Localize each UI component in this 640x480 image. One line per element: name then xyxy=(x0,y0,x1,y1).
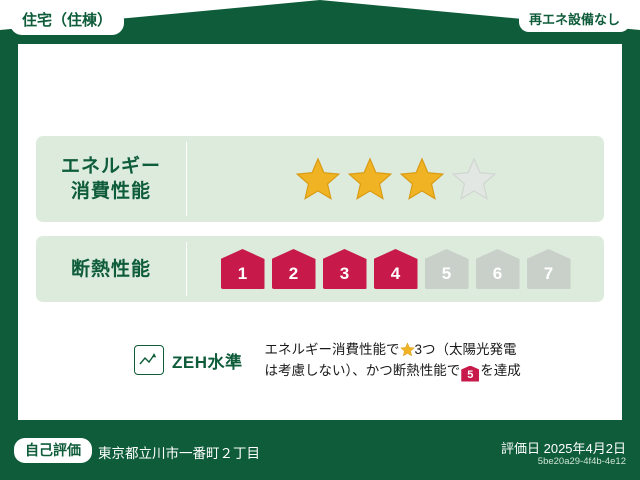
label-footer: 自己評価 東京都立川市一番町２丁目 評価日 2025年4月2日 5be20a29… xyxy=(0,424,640,480)
heading-main: 省エネ性能ラベル xyxy=(0,82,640,119)
property-address: 東京都立川市一番町２丁目 xyxy=(98,442,260,462)
evaluation-date: 評価日 2025年4月2日 xyxy=(501,438,626,457)
insulation-grade-5: 5 xyxy=(425,249,469,289)
insulation-grade-3: 3 xyxy=(323,249,367,289)
self-evaluation-badge: 自己評価 xyxy=(14,438,92,463)
insulation-grade-6: 6 xyxy=(476,249,520,289)
grade-number: 4 xyxy=(391,264,400,284)
energy-performance-row: エネルギー 消費性能 xyxy=(36,136,604,222)
insulation-grade-1: 1 xyxy=(221,249,265,289)
zeh-desc-line2-b: を達成 xyxy=(480,363,521,378)
energy-performance-label: 住宅（住棟） 再エネ設備なし 建築物省エネ法に基づく 省エネ性能ラベル エネルギ… xyxy=(0,0,640,480)
zeh-desc-line2-a: は考慮しない）、かつ断熱性能で xyxy=(265,363,461,378)
star-filled-icon xyxy=(295,156,341,202)
grade-number: 5 xyxy=(467,369,473,381)
star-empty-icon xyxy=(451,156,497,202)
zeh-description: エネルギー消費性能で3つ（太陽光発電 は考慮しない）、かつ断熱性能で5を達成 xyxy=(265,339,521,382)
energy-performance-title-line1: エネルギー xyxy=(36,154,186,179)
zeh-house-icon xyxy=(134,345,164,375)
zeh-mark: ZEH水準 xyxy=(134,345,243,375)
grade-number: 3 xyxy=(340,264,349,284)
insulation-grade-2: 2 xyxy=(272,249,316,289)
insulation-grade-7: 7 xyxy=(527,249,571,289)
zeh-desc-line1-a: エネルギー消費性能で xyxy=(265,342,400,357)
grade-number: 1 xyxy=(238,264,247,284)
insulation-performance-title: 断熱性能 xyxy=(36,257,186,282)
star-rating xyxy=(187,156,604,202)
heading-sub: 建築物省エネ法に基づく xyxy=(0,58,640,79)
grade-number: 6 xyxy=(493,264,502,284)
zeh-desc-grade-badge: 5 xyxy=(461,366,479,382)
evaluation-id: 5be20a29-4f4b-4e12 xyxy=(538,456,626,467)
star-filled-icon xyxy=(347,156,393,202)
grade-number: 5 xyxy=(442,264,451,284)
star-filled-icon xyxy=(400,342,415,357)
zeh-section: ZEH水準 エネルギー消費性能で3つ（太陽光発電 は考慮しない）、かつ断熱性能で… xyxy=(36,330,604,390)
grade-number: 2 xyxy=(289,264,298,284)
insulation-grade-4: 4 xyxy=(374,249,418,289)
zeh-label: ZEH水準 xyxy=(172,348,243,373)
star-filled-icon xyxy=(399,156,445,202)
renewable-equipment-badge: 再エネ設備なし xyxy=(519,8,630,32)
zeh-desc-line1-b: 3つ（太陽光発電 xyxy=(415,342,517,357)
insulation-grade-scale: 1 2 3 4 5 xyxy=(221,249,571,289)
building-type-badge: 住宅（住棟） xyxy=(10,8,124,35)
insulation-performance-row: 断熱性能 1 2 3 4 xyxy=(36,236,604,302)
energy-performance-title: エネルギー 消費性能 xyxy=(36,154,186,204)
energy-performance-title-line2: 消費性能 xyxy=(36,179,186,204)
grade-number: 7 xyxy=(544,264,553,284)
